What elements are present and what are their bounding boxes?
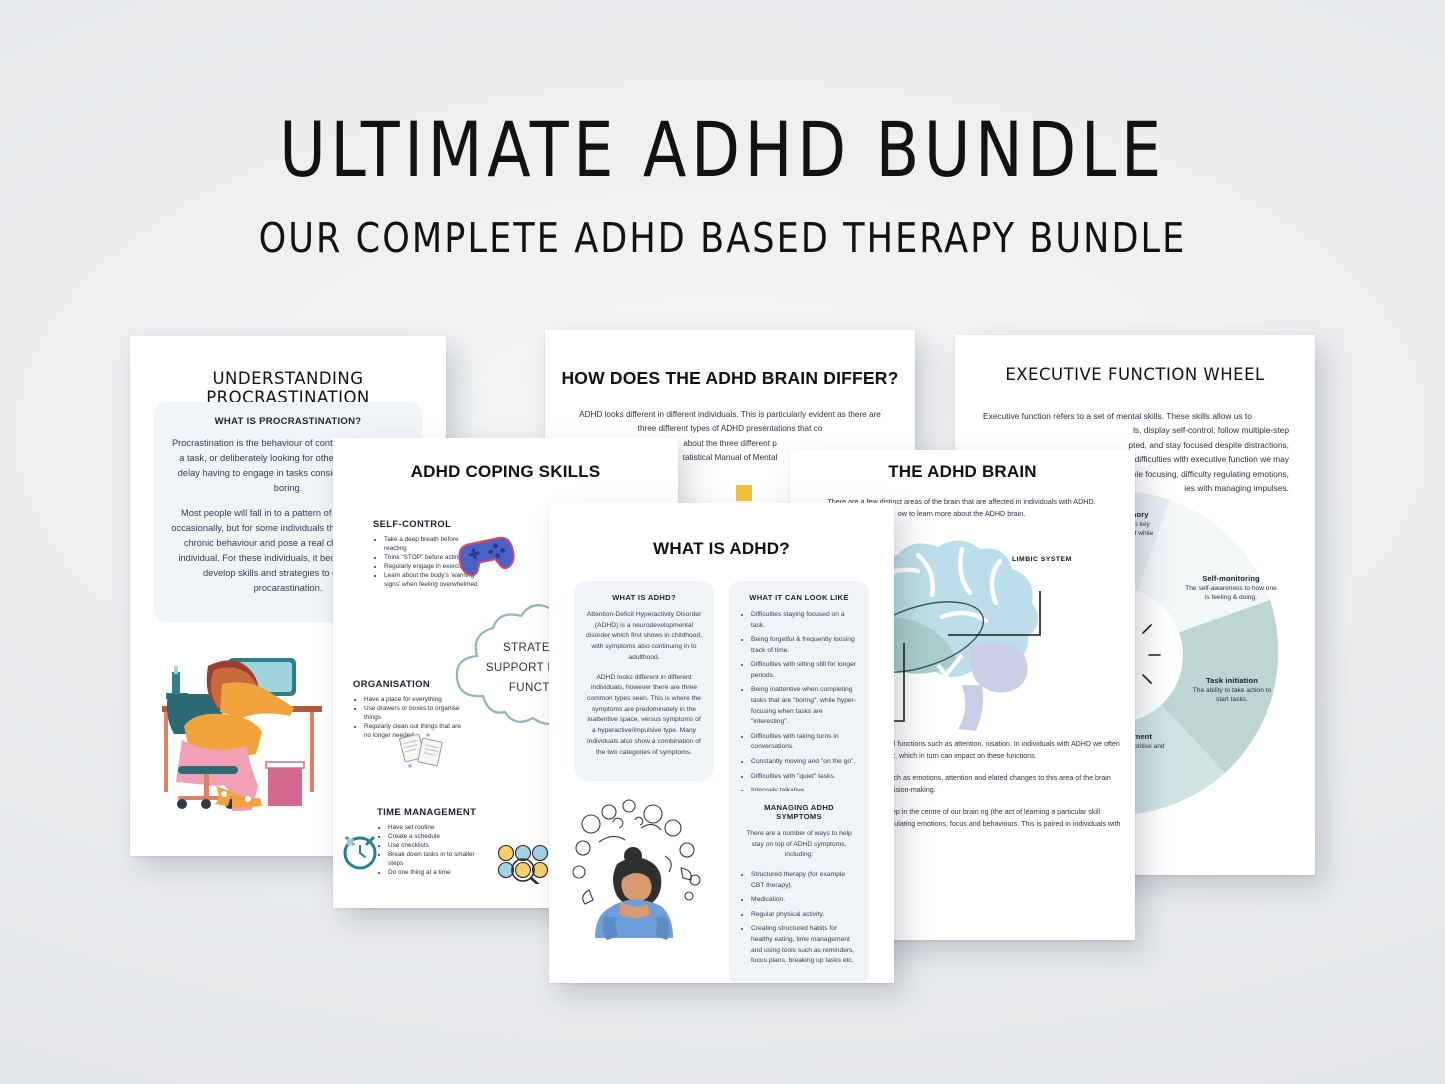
list-item: Use checklists (388, 841, 487, 850)
list-item: Do one thing at a time (388, 868, 487, 877)
list-item: Being inattentive when completing tasks … (751, 685, 857, 727)
emotion-faces-icon (497, 844, 557, 884)
list-item: Have a place for everything (364, 695, 465, 704)
managing-adhd-symptoms-intro: There are a number of ways to help stay … (741, 829, 857, 861)
poster-heading-group: ULTIMATE ADHD BUNDLE OUR COMPLETE ADHD B… (0, 112, 1445, 262)
page-subtitle: OUR COMPLETE ADHD BASED THERAPY BUNDLE (36, 214, 1409, 262)
stressed-woman-thoughts-illustration (569, 798, 719, 943)
section-time-management: TIME MANAGEMENT Have set routine Create … (377, 806, 487, 878)
card3-intro-line-1: Executive function refers to a set of me… (983, 409, 1289, 423)
list-item: Have set routine (388, 823, 487, 832)
list-item: Break down tasks in to smaller steps (388, 850, 487, 868)
list-item: Difficulties with "quiet" tasks. (751, 772, 857, 783)
list-item: Difficulties with sitting still for long… (751, 660, 857, 681)
alarm-clock-icon (337, 828, 383, 874)
list-item: Structured therapy (for example CBT ther… (751, 870, 857, 891)
wheel-label-self-monitoring-desc: The self-awareness to how one is feeling… (1182, 585, 1280, 603)
section-time-management-list: Have set routine Create a schedule Use c… (377, 823, 487, 878)
list-item: Difficulties staying focused on a task. (751, 610, 857, 631)
wheel-label-task-initiation: Task initiation The ability to take acti… (1188, 676, 1276, 705)
what-is-adhd-left-paragraph-1: Attention-Deficit Hyperactivity Disorder… (586, 610, 702, 664)
what-is-adhd-left-box: WHAT IS ADHD? Attention-Deficit Hyperact… (574, 581, 714, 781)
card3-title: EXECUTIVE FUNCTION WHEEL (955, 365, 1315, 384)
list-item: Use drawers or boxes to organise things (364, 704, 465, 722)
page-title: ULTIMATE ADHD BUNDLE (51, 112, 1395, 188)
what-is-procrastination-heading: WHAT IS PROCRASTINATION? (170, 416, 406, 427)
card2-intro-line-1: ADHD looks different in different indivi… (575, 408, 885, 422)
managing-adhd-symptoms-heading: MANAGING ADHD SYMPTOMS (741, 803, 857, 821)
card-what-is-adhd[interactable]: WHAT IS ADHD? WHAT IS ADHD? Attention-De… (549, 503, 894, 983)
list-item: Create a schedule (388, 832, 487, 841)
what-it-can-look-like-heading: WHAT IT CAN LOOK LIKE (741, 593, 857, 602)
what-it-can-look-like-box: WHAT IT CAN LOOK LIKE Difficulties stayi… (729, 581, 869, 815)
what-it-can-look-like-list: Difficulties staying focused on a task. … (741, 610, 857, 797)
wheel-label-task-initiation-desc: The ability to take action to start task… (1188, 687, 1276, 705)
what-is-adhd-left-heading: WHAT IS ADHD? (586, 593, 702, 602)
card5-title: THE ADHD BRAIN (790, 462, 1135, 482)
list-item: Medication. (751, 895, 857, 906)
card6-title: WHAT IS ADHD? (549, 539, 894, 559)
poster-stage: ULTIMATE ADHD BUNDLE OUR COMPLETE ADHD B… (0, 0, 1445, 1084)
list-item: Creating structured habits for healthy e… (751, 924, 857, 966)
list-item: Being forgetful & frequently loosing tra… (751, 635, 857, 656)
managing-adhd-symptoms-box: MANAGING ADHD SYMPTOMS There are a numbe… (729, 791, 869, 983)
wheel-label-self-monitoring-title: Self-monitoring (1182, 574, 1280, 583)
woman-at-desk-illustration (148, 636, 338, 811)
section-time-management-heading: TIME MANAGEMENT (377, 806, 487, 817)
card3-intro-line-2: ls, display self-control, follow multipl… (983, 423, 1289, 437)
list-item: Difficulties with taking turns in conver… (751, 732, 857, 753)
wheel-label-self-monitoring: Self-monitoring The self-awareness to ho… (1182, 574, 1280, 603)
list-item: Constantly moving and "on the go". (751, 757, 857, 768)
list-item: Regular physical activity. (751, 910, 857, 921)
label-limbic-system: LIMBIC SYSTEM (1012, 556, 1072, 563)
managing-adhd-symptoms-list: Structured therapy (for example CBT ther… (741, 870, 857, 967)
card2-title: HOW DOES THE ADHD BRAIN DIFFER? (545, 368, 915, 389)
card2-intro-line-2: three different types of ADHD presentati… (575, 422, 885, 436)
section-self-control-heading: SELF-CONTROL (373, 518, 478, 529)
wheel-label-task-initiation-title: Task initiation (1188, 676, 1276, 685)
section-organisation-heading: ORGANISATION (353, 678, 465, 689)
what-is-adhd-left-paragraph-2: ADHD looks different in different indivi… (586, 673, 702, 759)
card4-title: ADHD COPING SKILLS (333, 462, 678, 482)
sticky-notes-icon (398, 730, 450, 772)
